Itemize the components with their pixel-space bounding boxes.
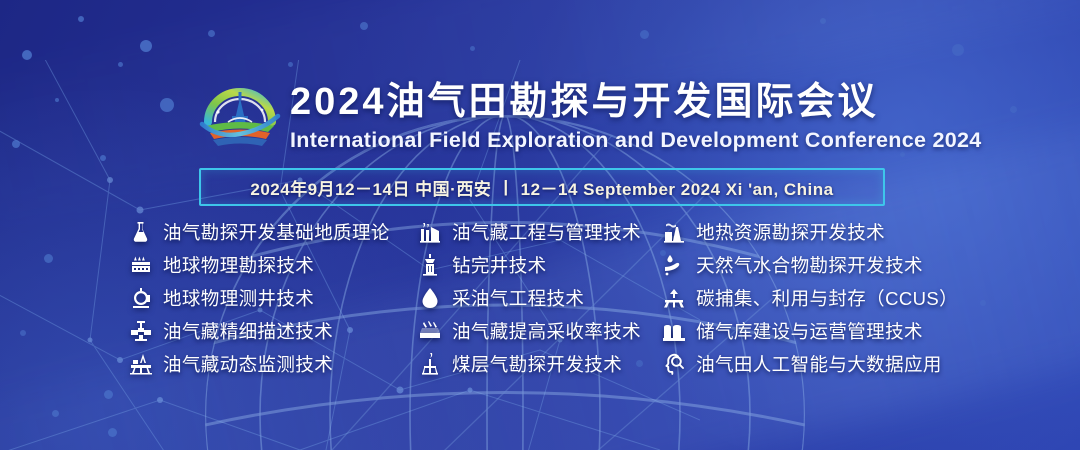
topic-item: 油气藏动态监测技术 (128, 348, 417, 380)
date-en: 12－14 September 2024 Xi 'an, China (521, 175, 834, 200)
topic-label: 储气库建设与运营管理技术 (696, 318, 923, 344)
conference-banner: 2024油气田勘探与开发国际会议 International Field Exp… (0, 0, 1080, 450)
geothermal-plant-icon (661, 219, 687, 245)
ifedc-conference-logo (198, 72, 282, 160)
topic-item: 油气藏工程与管理技术 (417, 216, 661, 248)
topic-label: 采油气工程技术 (452, 285, 584, 311)
title-block: 2024油气田勘探与开发国际会议 International Field Exp… (290, 79, 982, 154)
topic-label: 油气藏提高采收率技术 (452, 318, 641, 344)
hand-droplet-icon (661, 252, 687, 278)
topic-item: 油气田人工智能与大数据应用 (661, 348, 958, 380)
topic-item: 地热资源勘探开发技术 (661, 216, 958, 248)
topic-item: 油气藏提高采收率技术 (417, 315, 661, 347)
topic-label: 钻完井技术 (452, 252, 547, 278)
topic-label: 碳捕集、利用与封存（CCUS） (696, 285, 958, 311)
topic-label: 地热资源勘探开发技术 (696, 219, 885, 245)
topic-label: 油气藏工程与管理技术 (452, 219, 641, 245)
drilling-rig-icon (417, 252, 443, 278)
reservoir-layers-icon (417, 318, 443, 344)
topic-label: 煤层气勘探开发技术 (452, 351, 622, 377)
page-title: 2024油气田勘探与开发国际会议 (290, 79, 982, 125)
gas-storage-icon (661, 318, 687, 344)
seismic-survey-icon (128, 252, 154, 278)
topic-item: 天然气水合物勘探开发技术 (661, 249, 958, 281)
topic-item: 地球物理测井技术 (128, 282, 417, 314)
banner-header: 2024油气田勘探与开发国际会议 International Field Exp… (198, 72, 982, 160)
topic-label: 油气田人工智能与大数据应用 (696, 351, 942, 377)
topic-item: 储气库建设与运营管理技术 (661, 315, 958, 347)
topic-item: 碳捕集、利用与封存（CCUS） (661, 282, 958, 314)
flask-icon (128, 219, 154, 245)
topic-label: 地球物理测井技术 (163, 285, 314, 311)
ai-brain-icon (661, 351, 687, 377)
refinery-icon (417, 219, 443, 245)
oil-droplet-icon (417, 285, 443, 311)
banner-content: 2024油气田勘探与开发国际会议 International Field Exp… (0, 0, 1080, 450)
logging-tool-icon (128, 285, 154, 311)
date-separator: | (503, 177, 508, 197)
topic-label: 油气藏精细描述技术 (163, 318, 333, 344)
topic-label: 油气勘探开发基础地质理论 (163, 219, 390, 245)
date-cn: 2024年9月12－14日 中国·西安 (250, 175, 491, 200)
topic-label: 天然气水合物勘探开发技术 (696, 252, 923, 278)
topic-item: 煤层气勘探开发技术 (417, 348, 661, 380)
wellhead-valve-icon (128, 318, 154, 344)
topic-item: 油气勘探开发基础地质理论 (128, 216, 417, 248)
date-venue-bar: 2024年9月12－14日 中国·西安 | 12－14 September 20… (199, 168, 885, 206)
topic-item: 采油气工程技术 (417, 282, 661, 314)
topic-list: 油气勘探开发基础地质理论 地球物理勘探技术 (128, 216, 958, 381)
topic-label: 油气藏动态监测技术 (163, 351, 333, 377)
offshore-platform-icon (128, 351, 154, 377)
topic-item: 地球物理勘探技术 (128, 249, 417, 281)
carbon-capture-icon (661, 285, 687, 311)
page-subtitle: International Field Exploration and Deve… (290, 126, 982, 154)
topic-column-2: 油气藏工程与管理技术 钻完井技术 (417, 216, 661, 381)
coalbed-methane-icon (417, 351, 443, 377)
topic-label: 地球物理勘探技术 (163, 252, 314, 278)
topic-item: 油气藏精细描述技术 (128, 315, 417, 347)
topic-column-1: 油气勘探开发基础地质理论 地球物理勘探技术 (128, 216, 417, 381)
topic-column-3: 地热资源勘探开发技术 天然气水合物勘探开发技术 (661, 216, 958, 381)
topic-item: 钻完井技术 (417, 249, 661, 281)
